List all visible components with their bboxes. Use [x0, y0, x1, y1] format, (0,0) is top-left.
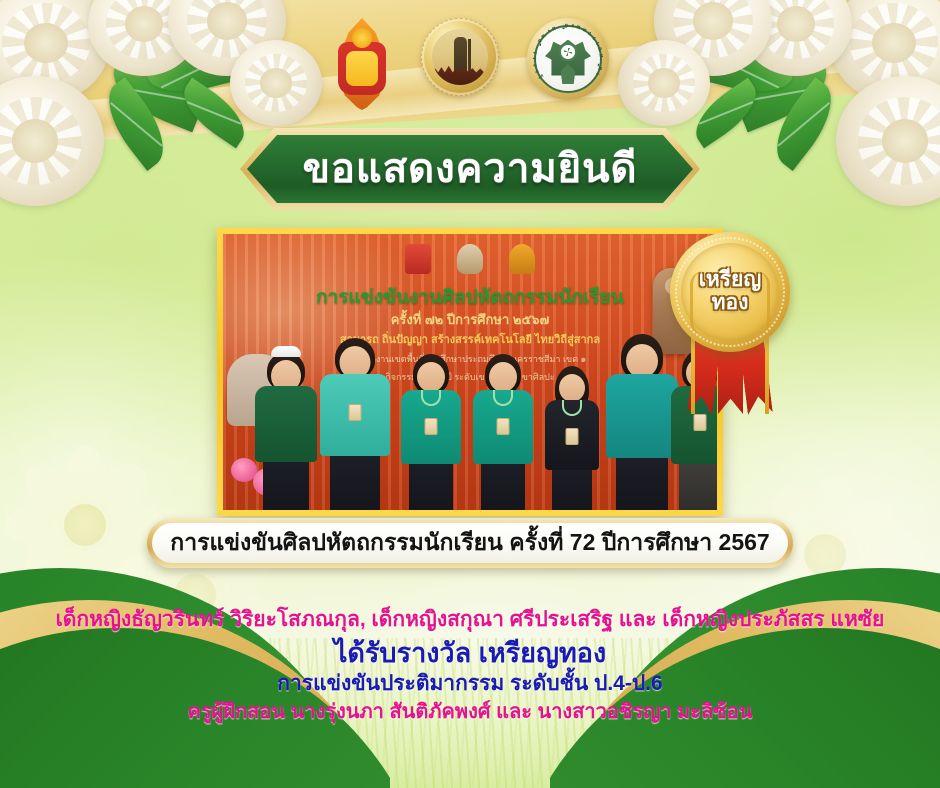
- congratulation-poster: โรงเรียนเมืองนครราชสีมา ขอแสดงความยินดี …: [0, 0, 940, 788]
- photo-person: [249, 338, 323, 510]
- photo-person: [467, 342, 539, 510]
- competition-title-pill: การแข่งขันศิลปหัตถกรรมนักเรียน ครั้งที่ …: [147, 518, 793, 568]
- photo-person: [315, 330, 395, 510]
- obec-emblem-logo: [331, 18, 393, 110]
- congratulations-banner: ขอแสดงความยินดี: [240, 128, 700, 210]
- photo-person: [539, 350, 605, 510]
- photo-people-group: [223, 325, 717, 510]
- congratulations-text: ขอแสดงความยินดี: [303, 149, 638, 189]
- competition-title-text: การแข่งขันศิลปหัตถกรรมนักเรียน ครั้งที่ …: [170, 525, 769, 561]
- medal-label-line2: ทอง: [712, 292, 749, 315]
- award-result-text: ได้รับรางวัล เหรียญทอง: [0, 638, 940, 668]
- gold-medal-badge: เหรียญ ทอง: [668, 232, 792, 414]
- coach-teachers-text: ครูผู้ฝึกสอน นางรุ่งนภา สันติภัคพงศ์ และ…: [0, 701, 940, 723]
- medal-disc-icon: เหรียญ ทอง: [670, 232, 790, 352]
- photo-person: [395, 342, 467, 510]
- award-photo: การแข่งขันงานศิลปหัตถกรรมนักเรียน ครั้งท…: [223, 234, 717, 510]
- logo-row: โรงเรียนเมืองนครราชสีมา: [0, 18, 940, 110]
- award-photo-frame: การแข่งขันงานศิลปหัตถกรรมนักเรียน ครั้งท…: [217, 228, 723, 516]
- award-details: เด็กหญิงธัญวรินทร์ วิริยะโสภณกุล, เด็กหญ…: [0, 608, 940, 724]
- school-seal-text: โรงเรียนเมืองนครราชสีมา: [536, 27, 601, 92]
- school-seal-logo: โรงเรียนเมืองนครราชสีมา: [527, 18, 609, 100]
- student-names-text: เด็กหญิงธัญวรินทร์ วิริยะโสภณกุล, เด็กหญ…: [0, 608, 940, 632]
- photo-banner-title: การแข่งขันงานศิลปหัตถกรรมนักเรียน: [316, 282, 624, 312]
- event-category-text: การแข่งขันประติมากรรม ระดับชั้น ป.4-ป.6: [0, 672, 940, 696]
- event-medal-logo: [421, 18, 499, 96]
- photo-banner-logos: [405, 244, 535, 274]
